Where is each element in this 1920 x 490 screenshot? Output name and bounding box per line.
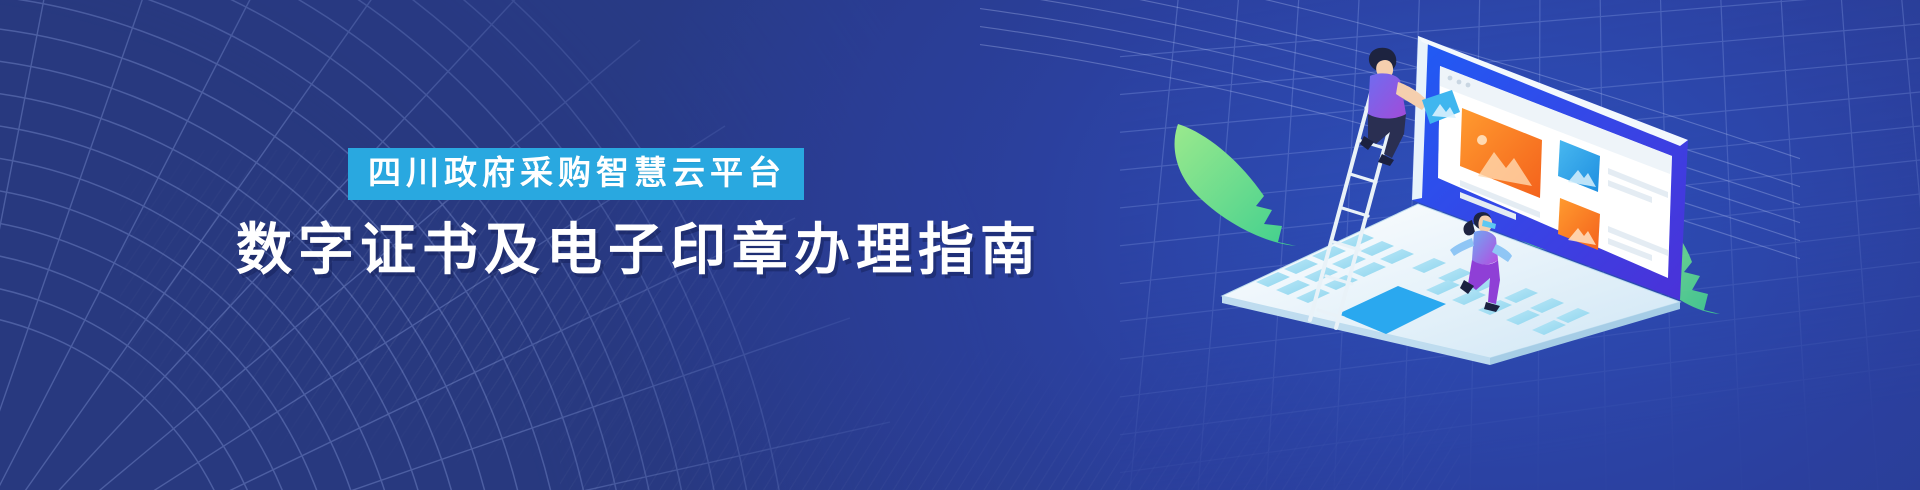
banner-headline: 数字证书及电子印章办理指南 — [236, 221, 956, 280]
green-leaf-left — [1175, 124, 1296, 246]
banner-text-block: 四川政府采购智慧云平台 数字证书及电子印章办理指南 — [236, 148, 956, 279]
platform-badge: 四川政府采购智慧云平台 — [348, 148, 804, 200]
promo-banner: 四川政府采购智慧云平台 数字证书及电子印章办理指南 — [0, 0, 1920, 490]
hero-illustration — [1160, 28, 1720, 358]
